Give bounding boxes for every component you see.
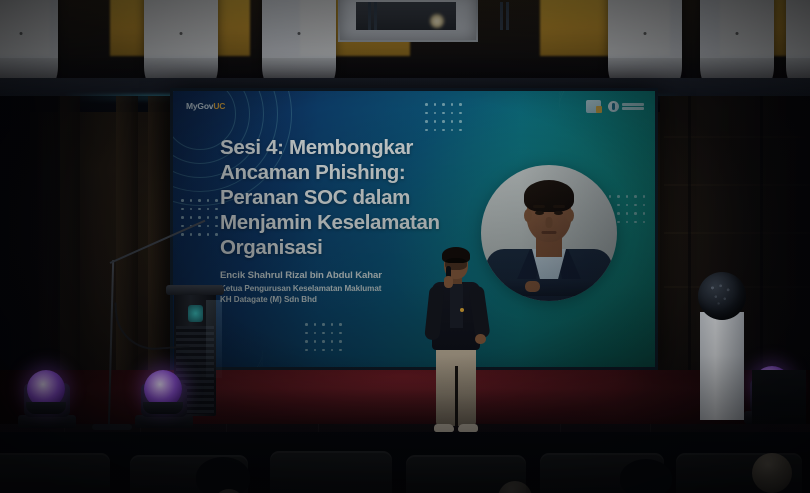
partner-logo-mark-icon	[586, 100, 601, 113]
slide-title-line: Menjamin Keselamatan	[220, 210, 550, 235]
mygovuc-logo-accent: UC	[213, 101, 225, 111]
audience-chair	[270, 451, 392, 493]
conference-stage-photo: MyGovUC	[0, 0, 810, 493]
audience-head-silhouette	[620, 459, 672, 493]
slide-title-line: Organisasi	[220, 235, 550, 260]
audience-head-lit	[752, 453, 792, 493]
presentation-slide: MyGovUC	[173, 91, 655, 367]
mygovuc-logo: MyGovUC	[186, 101, 225, 111]
slide-title-line: Ancaman Phishing:	[220, 160, 550, 185]
dot-grid-bottom	[305, 323, 342, 351]
moving-head-light-left	[18, 366, 76, 428]
slide-title: Sesi 4: Membongkar Ancaman Phishing: Per…	[220, 135, 550, 260]
lectern-side-panel	[206, 300, 222, 378]
audience-head-silhouette	[196, 457, 250, 493]
partner-logos	[586, 100, 644, 113]
slide-title-line: Sesi 4: Membongkar	[220, 135, 550, 160]
slide-title-line: Peranan SOC dalam	[220, 185, 550, 210]
stage-monitor-speaker	[752, 370, 806, 424]
microphone-stand-base	[92, 424, 132, 430]
audience-foreground	[0, 432, 810, 493]
presenter	[424, 250, 488, 435]
display-pedestal	[700, 312, 744, 420]
decorative-globe	[698, 272, 746, 320]
audience-chair	[0, 453, 110, 493]
lectern-top	[166, 285, 224, 295]
ceiling-lamp	[430, 14, 444, 28]
dot-grid-top	[425, 103, 462, 131]
moving-head-light-center-left	[135, 366, 193, 428]
partner-logo-wordmark-icon	[608, 101, 644, 112]
lectern-emblem	[188, 305, 203, 322]
mygovuc-logo-text: MyGov	[186, 101, 213, 111]
